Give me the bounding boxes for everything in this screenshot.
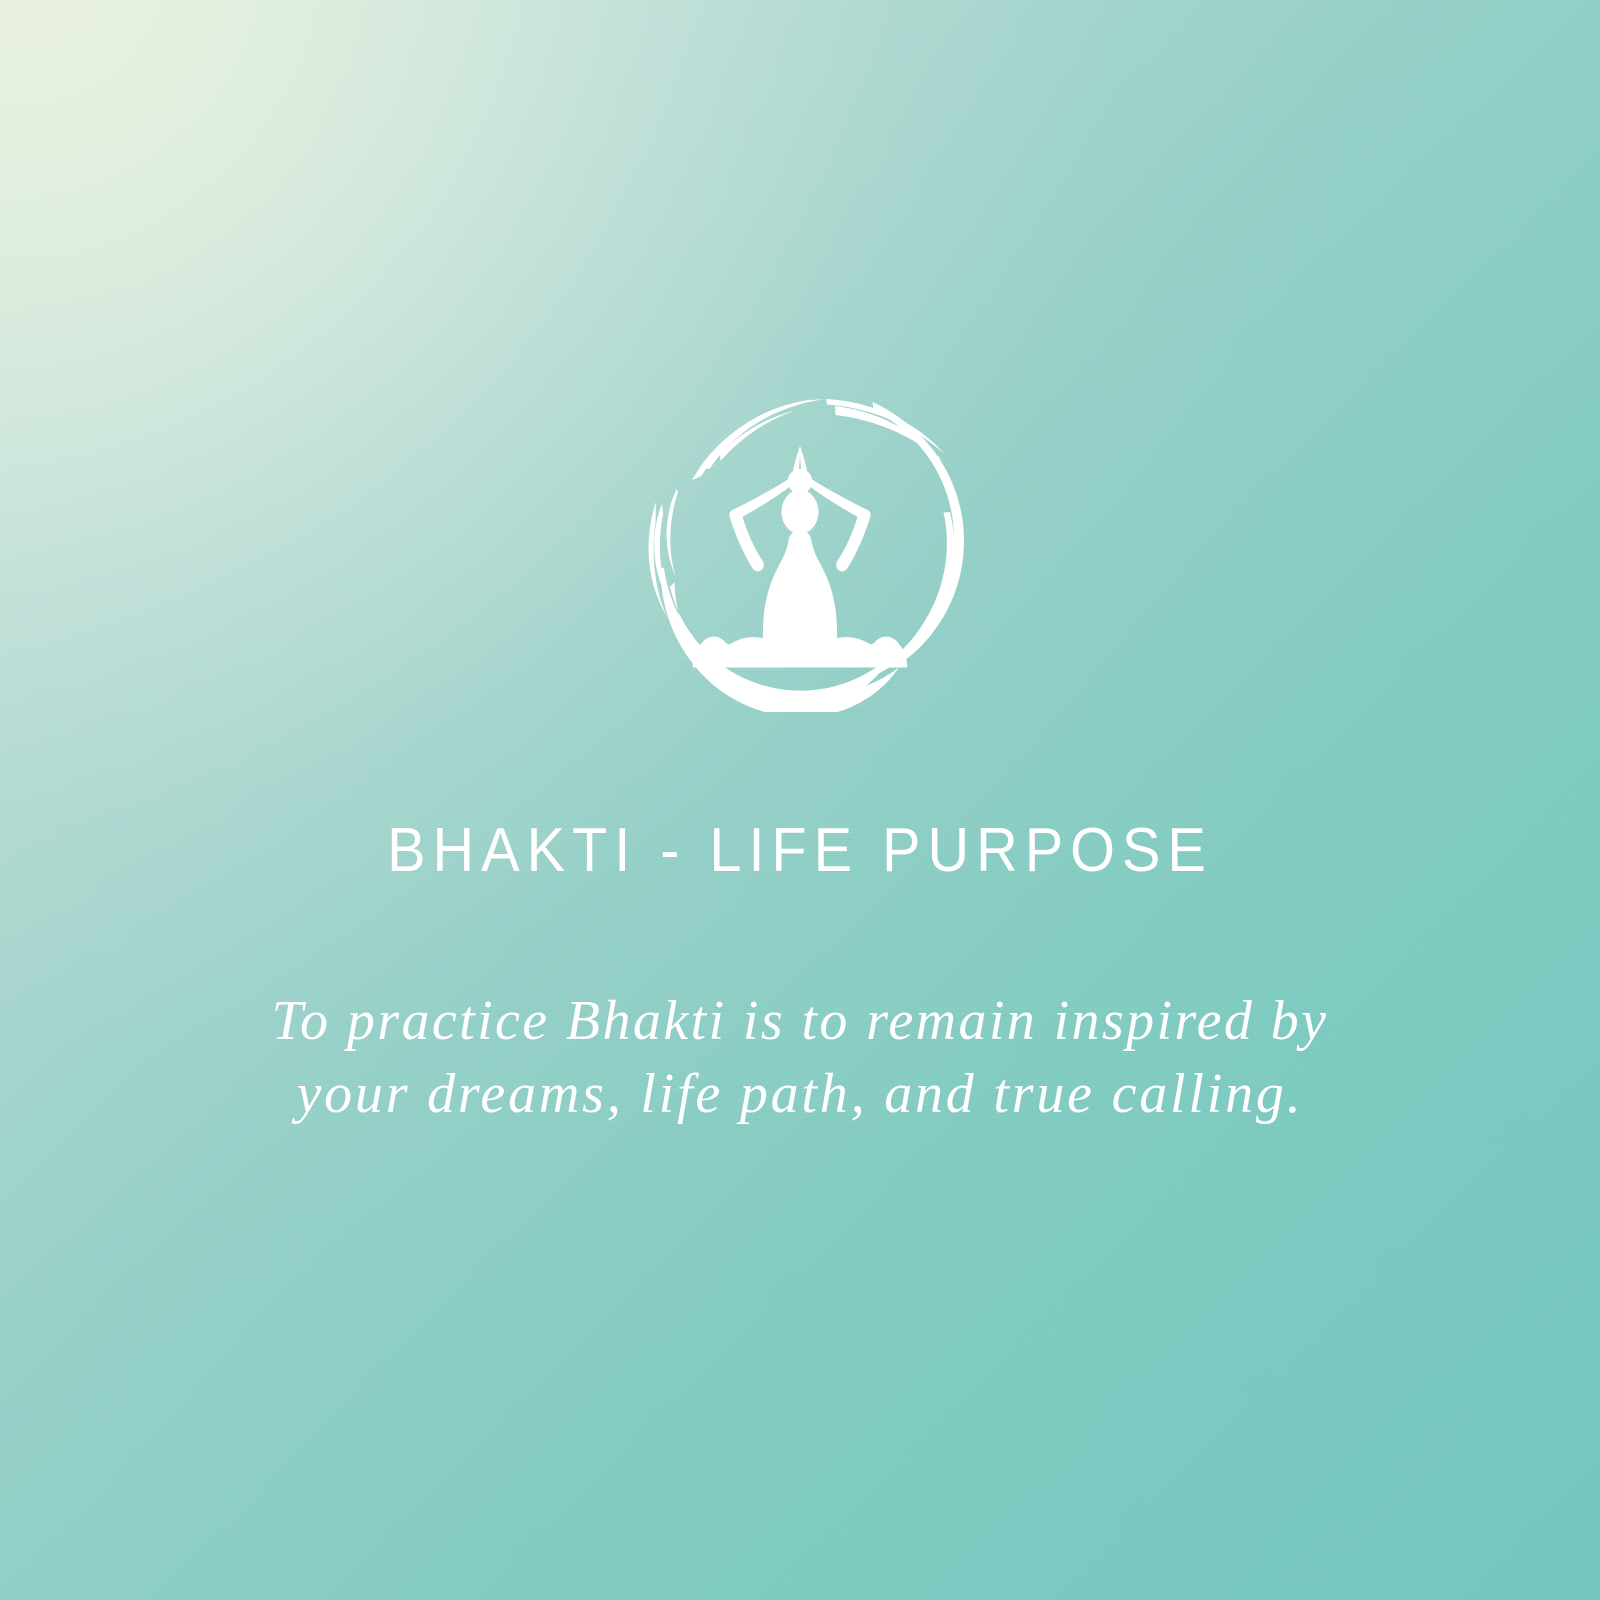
quote-line-1: To practice Bhakti is to remain inspired…: [210, 985, 1390, 1058]
yoga-lotus-meditation-enso-logo-icon: [630, 372, 970, 712]
quote-card: BHAKTI - LIFE PURPOSE To practice Bhakti…: [0, 0, 1600, 1600]
page-title: BHAKTI - LIFE PURPOSE: [56, 820, 1544, 882]
card-content: BHAKTI - LIFE PURPOSE To practice Bhakti…: [0, 0, 1600, 1600]
quote-line-2: your dreams, life path, and true calling…: [210, 1058, 1390, 1131]
quote-text: To practice Bhakti is to remain inspired…: [210, 985, 1390, 1131]
logo: [630, 372, 970, 712]
